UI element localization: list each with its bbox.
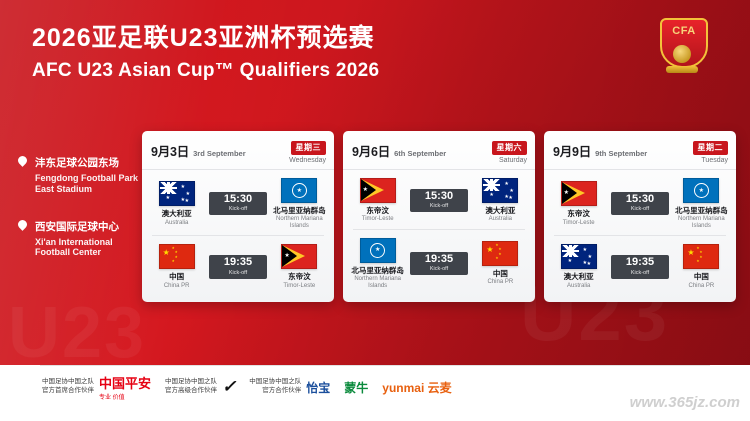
sponsor-tier-line2: 官方高级合作伙伴	[165, 387, 217, 396]
kickoff-chip: 19:35 Kick-off	[611, 255, 668, 279]
away-team: ★ ★ ★ ★ ★ 中国 China PR	[473, 241, 528, 286]
match-row: ★ ★ ★ ★ ★ 中国 China PR 19:35 Kick-off	[142, 236, 334, 293]
cfa-base-icon	[666, 66, 698, 73]
sponsor-logo-yunmai: yunmai 云麦	[382, 379, 451, 396]
nike-swoosh-icon: ✓	[222, 377, 235, 397]
away-team: ★ ★ ★ ★ ★ 澳大利亚 Australia	[473, 178, 528, 223]
sponsor-tier-line2: 官方合作伙伴	[249, 387, 301, 396]
away-team: ★ 东帝汶 Timor-Leste	[272, 244, 327, 289]
date-cn: 9月9日	[553, 141, 591, 160]
team-name-en: Timor-Leste	[551, 220, 606, 227]
away-team: ★ 北马里亚纳群岛 Northern Mariana Islands	[674, 178, 729, 229]
team-name-cn: 中国	[149, 273, 204, 281]
venue-list: 沣东足球公园东场 Fengdong Football Park East Sta…	[18, 153, 138, 280]
weekday-en: Wednesday	[289, 157, 326, 164]
kickoff-time: 19:35	[209, 257, 266, 268]
day-card-header: 9月6日 6th September 星期六 Saturday	[343, 131, 535, 170]
away-team: ★ 北马里亚纳群岛 Northern Mariana Islands	[272, 178, 327, 229]
kickoff-time: 15:30	[209, 194, 266, 205]
team-name-cn: 澳大利亚	[551, 273, 606, 281]
team-name-cn: 东帝汶	[551, 210, 606, 218]
team-name-en: Australia	[473, 216, 528, 223]
australia-flag-icon: ★ ★ ★ ★ ★	[561, 244, 597, 269]
kickoff-chip: 19:35 Kick-off	[410, 252, 467, 276]
match-time: 15:30 Kick-off	[611, 192, 668, 216]
venue-item: 沣东足球公园东场 Fengdong Football Park East Sta…	[18, 153, 138, 195]
team-name-cn: 中国	[674, 273, 729, 281]
kickoff-label: Kick-off	[209, 270, 266, 276]
sponsor-name: 中国平安	[99, 373, 151, 392]
northern-mariana-islands-flag-icon: ★	[281, 178, 317, 203]
home-team: ★ 北马里亚纳群岛 Northern Mariana Islands	[350, 238, 405, 289]
sponsor-row: 中国足协中国之队 官方首席合作伙伴 中国平安 专业 价值 中国足协中国之队 官方…	[42, 373, 730, 401]
kickoff-time: 19:35	[611, 257, 668, 268]
china-flag-icon: ★ ★ ★ ★ ★	[683, 244, 719, 269]
kickoff-chip: 15:30 Kick-off	[410, 189, 467, 213]
weekday-cn: 星期六	[492, 141, 528, 155]
sponsor-logo-mengniu: 蒙牛	[344, 379, 368, 396]
kickoff-chip: 15:30 Kick-off	[209, 192, 266, 216]
match-row: ★ 东帝汶 Timor-Leste 15:30 Kick-off ★ ★	[343, 170, 535, 227]
team-name-en: Timor-Leste	[272, 283, 327, 290]
team-name-en: Northern Mariana Islands	[350, 276, 405, 289]
match-time: 15:30 Kick-off	[410, 189, 467, 213]
day-card: 9月3日 3rd September 星期三 Wednesday ★ ★ ★ ★	[142, 131, 334, 302]
home-team: ★ ★ ★ ★ ★ 澳大利亚 Australia	[149, 181, 204, 226]
weekday-block: 星期二 Tuesday	[693, 137, 729, 164]
date-block: 9月9日 9th September	[553, 141, 647, 160]
watermark: www.365jz.com	[630, 394, 740, 411]
date-cn: 9月6日	[352, 141, 390, 160]
sponsor-sub: 专业 价值	[99, 392, 151, 401]
team-name-en: Timor-Leste	[350, 216, 405, 223]
weekday-block: 星期三 Wednesday	[289, 137, 326, 164]
venue-name-cn: 沣东足球公园东场	[35, 157, 119, 169]
china-flag-icon: ★ ★ ★ ★ ★	[159, 244, 195, 269]
match-time: 19:35 Kick-off	[611, 255, 668, 279]
kickoff-time: 15:30	[611, 194, 668, 205]
team-name-en: Australia	[149, 220, 204, 227]
timor-leste-flag-icon: ★	[561, 181, 597, 206]
match-row: ★ ★ ★ ★ ★ 澳大利亚 Australia 19:35 Kick-off	[544, 236, 736, 293]
date-en: 6th September	[394, 149, 446, 158]
sponsor-tier: 中国足协中国之队 官方合作伙伴	[249, 378, 301, 396]
team-name-cn: 东帝汶	[272, 273, 327, 281]
date-block: 9月6日 6th September	[352, 141, 446, 160]
match-time: 15:30 Kick-off	[209, 192, 266, 216]
poster: U23 U23 2026亚足联U23亚洲杯预选赛 AFC U23 Asian C…	[0, 0, 750, 421]
cfa-logo-text: CFA	[672, 25, 696, 37]
weekday-cn: 星期三	[291, 141, 327, 155]
team-name-en: Australia	[551, 283, 606, 290]
location-pin-icon	[18, 220, 29, 231]
date-cn: 9月3日	[151, 141, 189, 160]
home-team: ★ 东帝汶 Timor-Leste	[551, 181, 606, 226]
match-schedule: 9月3日 3rd September 星期三 Wednesday ★ ★ ★ ★	[142, 131, 736, 302]
kickoff-label: Kick-off	[410, 203, 467, 209]
match-time: 19:35 Kick-off	[209, 255, 266, 279]
kickoff-chip: 19:35 Kick-off	[209, 255, 266, 279]
team-name-en: Northern Mariana Islands	[674, 216, 729, 229]
team-name-cn: 北马里亚纳群岛	[350, 267, 405, 275]
timor-leste-flag-icon: ★	[360, 178, 396, 203]
weekday-block: 星期六 Saturday	[492, 137, 528, 164]
team-name-cn: 中国	[473, 270, 528, 278]
northern-mariana-islands-flag-icon: ★	[360, 238, 396, 263]
date-block: 9月3日 3rd September	[151, 141, 246, 160]
sponsor-logo-yibao: 怡宝	[306, 379, 330, 396]
team-name-cn: 北马里亚纳群岛	[674, 207, 729, 215]
australia-flag-icon: ★ ★ ★ ★ ★	[159, 181, 195, 206]
match-time: 19:35 Kick-off	[410, 252, 467, 276]
day-card-header: 9月3日 3rd September 星期三 Wednesday	[142, 131, 334, 170]
cfa-logo: CFA	[660, 18, 708, 80]
sponsor-bar: 中国足协中国之队 官方首席合作伙伴 中国平安 专业 价值 中国足协中国之队 官方…	[0, 365, 750, 421]
location-pin-icon	[18, 156, 29, 167]
venue-name-cn: 西安国际足球中心	[35, 221, 119, 233]
sponsor-tier-line1: 中国足协中国之队	[42, 378, 94, 387]
title-en: AFC U23 Asian Cup™ Qualifiers 2026	[32, 60, 379, 82]
kickoff-chip: 15:30 Kick-off	[611, 192, 668, 216]
weekday-en: Tuesday	[693, 157, 729, 164]
home-team: ★ 东帝汶 Timor-Leste	[350, 178, 405, 223]
china-flag-icon: ★ ★ ★ ★ ★	[482, 241, 518, 266]
sponsor-tier-line1: 中国足协中国之队	[165, 378, 217, 387]
kickoff-label: Kick-off	[611, 206, 668, 212]
kickoff-label: Kick-off	[209, 206, 266, 212]
header: 2026亚足联U23亚洲杯预选赛 AFC U23 Asian Cup™ Qual…	[32, 24, 379, 82]
kickoff-time: 19:35	[410, 254, 467, 265]
team-name-en: China PR	[674, 283, 729, 290]
home-team: ★ ★ ★ ★ ★ 中国 China PR	[149, 244, 204, 289]
venue-name-en: Fengdong Football Park East Stadium	[35, 173, 138, 195]
kickoff-time: 15:30	[410, 191, 467, 202]
weekday-en: Saturday	[492, 157, 528, 164]
match-row: ★ 北马里亚纳群岛 Northern Mariana Islands 19:35…	[343, 230, 535, 293]
date-en: 9th September	[595, 149, 647, 158]
match-row: ★ 东帝汶 Timor-Leste 15:30 Kick-off ★ 北马里亚纳…	[544, 170, 736, 233]
sponsor-tier: 中国足协中国之队 官方高级合作伙伴	[165, 378, 217, 396]
day-card-header: 9月9日 9th September 星期二 Tuesday	[544, 131, 736, 170]
title-cn: 2026亚足联U23亚洲杯预选赛	[32, 24, 379, 53]
team-name-cn: 北马里亚纳群岛	[272, 207, 327, 215]
team-name-en: China PR	[473, 279, 528, 286]
sponsor-item: 中国足协中国之队 官方高级合作伙伴 ✓	[165, 377, 235, 397]
home-team: ★ ★ ★ ★ ★ 澳大利亚 Australia	[551, 244, 606, 289]
sponsor-tier-line2: 官方首席合作伙伴	[42, 387, 94, 396]
cfa-emblem-icon	[673, 45, 691, 63]
team-name-en: Northern Mariana Islands	[272, 216, 327, 229]
kickoff-label: Kick-off	[611, 270, 668, 276]
team-name-en: China PR	[149, 283, 204, 290]
sponsor-item: 中国足协中国之队 官方首席合作伙伴 中国平安 专业 价值	[42, 373, 151, 401]
team-name-cn: 东帝汶	[350, 207, 405, 215]
timor-leste-flag-icon: ★	[281, 244, 317, 269]
sponsor-tier: 中国足协中国之队 官方首席合作伙伴	[42, 378, 94, 396]
venue-name-en: Xi'an International Football Center	[35, 237, 138, 259]
sponsor-logo-pingan: 中国平安 专业 价值	[99, 373, 151, 401]
team-name-cn: 澳大利亚	[149, 210, 204, 218]
kickoff-label: Kick-off	[410, 266, 467, 272]
date-en: 3rd September	[193, 149, 246, 158]
team-name-cn: 澳大利亚	[473, 207, 528, 215]
day-card: 9月9日 9th September 星期二 Tuesday ★ 东帝汶 Tim…	[544, 131, 736, 302]
match-row: ★ ★ ★ ★ ★ 澳大利亚 Australia 15:30 Kick-off	[142, 170, 334, 233]
sponsor-tier-line1: 中国足协中国之队	[249, 378, 301, 387]
sponsor-item: 中国足协中国之队 官方合作伙伴 怡宝	[249, 378, 330, 396]
sponsor-divider	[40, 365, 710, 366]
weekday-cn: 星期二	[693, 141, 729, 155]
sponsor-item: yunmai 云麦	[382, 379, 451, 396]
australia-flag-icon: ★ ★ ★ ★ ★	[482, 178, 518, 203]
northern-mariana-islands-flag-icon: ★	[683, 178, 719, 203]
day-card: 9月6日 6th September 星期六 Saturday ★ 东帝汶 Ti…	[343, 131, 535, 302]
venue-item: 西安国际足球中心 Xi'an International Football Ce…	[18, 217, 138, 259]
decorative-text-left: U23	[8, 292, 146, 374]
sponsor-item: 蒙牛	[344, 379, 368, 396]
away-team: ★ ★ ★ ★ ★ 中国 China PR	[674, 244, 729, 289]
